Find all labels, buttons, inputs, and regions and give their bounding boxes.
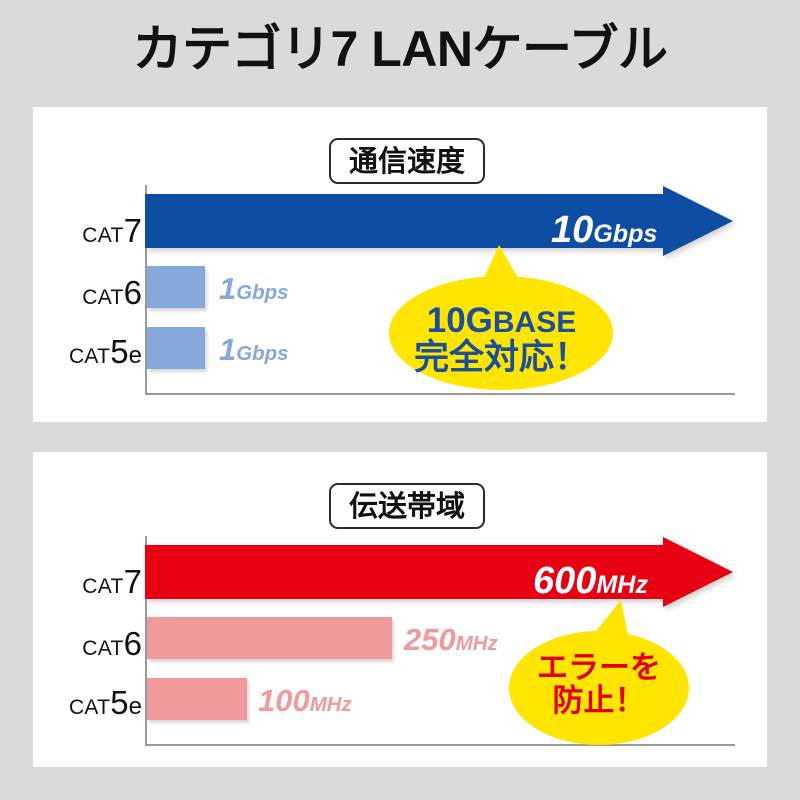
cat-number: 7 <box>124 212 142 249</box>
infographic-page: カテゴリ7 LANケーブル 通信速度 CAT7 CAT6 CAT5e 10Gbp… <box>0 0 800 800</box>
value-label-cat6-speed: 1Gbps <box>219 271 288 307</box>
callout-text-speed: 10GBASE 完全対応！ <box>389 302 614 376</box>
cat-number: 5 <box>110 333 128 370</box>
value-unit: MHz <box>456 632 498 655</box>
cat-word: CAT <box>82 286 123 309</box>
cat-number: 5 <box>110 684 128 721</box>
cat-suffix: e <box>129 342 142 369</box>
axis-horizontal-speed <box>145 393 735 395</box>
callout-line2: 防止！ <box>509 685 689 718</box>
cat-word: CAT <box>82 224 123 247</box>
cat-word: CAT <box>82 575 123 598</box>
cat-suffix: e <box>129 693 142 720</box>
section-heading-bandwidth: 伝送帯域 <box>329 483 485 529</box>
cat-number: 6 <box>124 625 142 662</box>
value-label-cat7-bandwidth: 600MHz <box>533 560 648 603</box>
callout-line1: 10GBASE <box>389 302 614 339</box>
callout-bubble-speed: 10GBASE 完全対応！ <box>389 245 614 390</box>
value-unit: Gbps <box>236 281 288 304</box>
cat-word: CAT <box>69 696 110 719</box>
callout-line1-sub: BASE <box>493 306 576 339</box>
value-number: 250 <box>404 622 456 657</box>
row-label-cat5e-speed: CAT5e <box>50 333 142 371</box>
callout-line1: エラーを <box>509 652 689 685</box>
callout-bubble-bandwidth: エラーを 防止！ <box>509 600 689 745</box>
cat-word: CAT <box>69 345 110 368</box>
callout-text-bandwidth: エラーを 防止！ <box>509 652 689 718</box>
cat-number: 7 <box>124 563 142 600</box>
row-label-cat7-bandwidth: CAT7 <box>50 563 142 601</box>
callout-line1-main: 10G <box>427 301 493 340</box>
value-unit: Gbps <box>236 342 288 365</box>
value-label-cat5e-speed: 1Gbps <box>219 332 288 368</box>
bar-cat6-speed <box>147 266 205 308</box>
value-number: 1 <box>219 271 236 306</box>
row-label-cat5e-bandwidth: CAT5e <box>50 684 142 722</box>
row-label-cat6-speed: CAT6 <box>50 274 142 312</box>
row-label-cat7-speed: CAT7 <box>50 212 142 250</box>
value-unit: MHz <box>596 571 648 599</box>
section-heading-speed: 通信速度 <box>329 138 485 184</box>
value-number: 1 <box>219 332 236 367</box>
page-title: カテゴリ7 LANケーブル <box>0 22 800 77</box>
value-number: 100 <box>258 683 310 718</box>
callout-line2: 完全対応！ <box>389 339 614 376</box>
cat-number: 6 <box>124 274 142 311</box>
bar-cat6-bandwidth <box>147 617 392 659</box>
value-unit: Gbps <box>593 220 657 248</box>
value-label-cat6-bandwidth: 250MHz <box>404 622 498 658</box>
value-unit: MHz <box>310 693 352 716</box>
value-label-cat5e-bandwidth: 100MHz <box>258 683 352 719</box>
value-number: 600 <box>533 560 596 602</box>
row-label-cat6-bandwidth: CAT6 <box>50 625 142 663</box>
cat-word: CAT <box>82 637 123 660</box>
bar-cat5e-speed <box>147 327 205 369</box>
bar-cat5e-bandwidth <box>147 678 247 720</box>
